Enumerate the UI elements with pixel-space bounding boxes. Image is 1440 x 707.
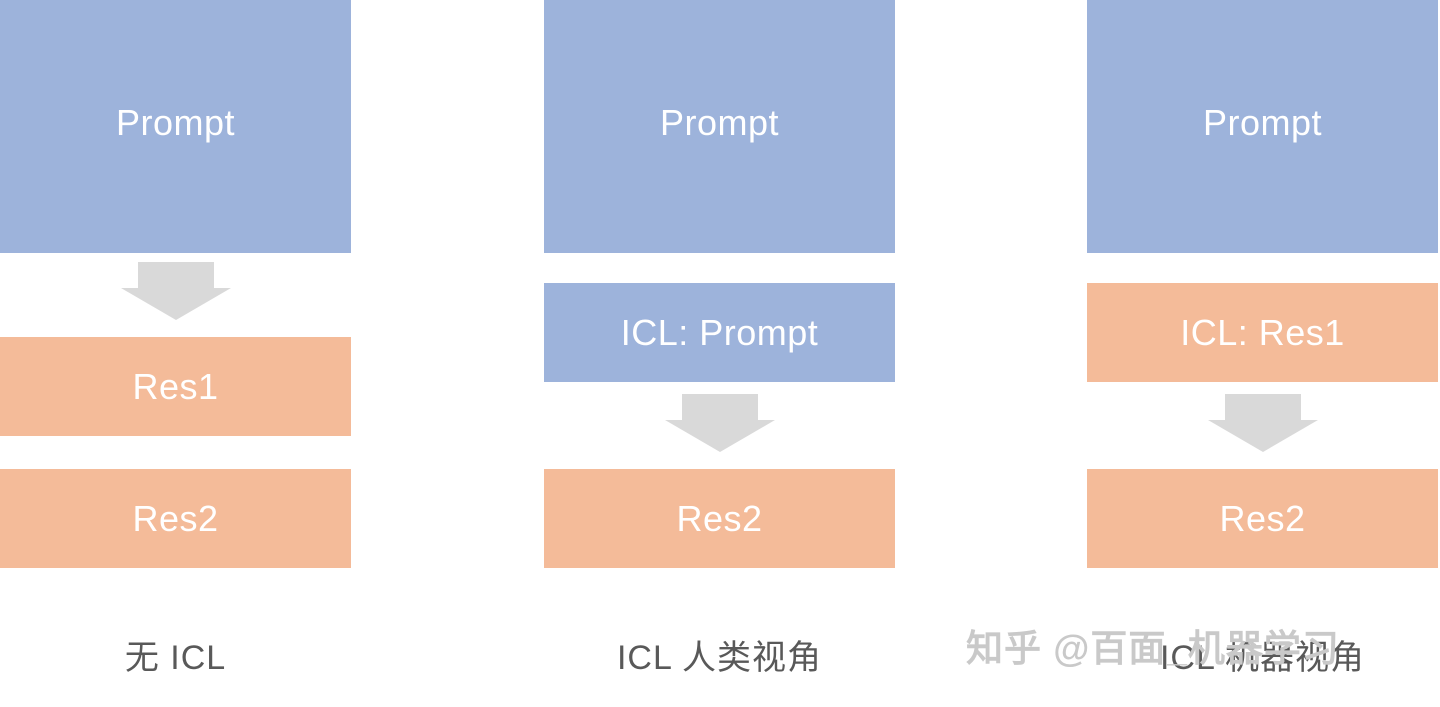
box-icl-res1: ICL: Res1 (1087, 283, 1438, 382)
column-caption-icl-machine-view: ICL 机器视角 (1087, 630, 1438, 679)
arrow-shaft (682, 394, 758, 420)
column-caption-no-icl: 无 ICL (0, 630, 351, 679)
arrow-down-icon (121, 262, 231, 320)
arrow-head (121, 288, 231, 320)
arrow-head (665, 420, 775, 452)
arrow-down-icon (1208, 394, 1318, 452)
box-prompt: Prompt (0, 0, 351, 253)
column-caption-icl-human-view: ICL 人类视角 (544, 630, 895, 679)
box-prompt: Prompt (1087, 0, 1438, 253)
arrow-down-icon (665, 394, 775, 452)
box-prompt: Prompt (544, 0, 895, 253)
diagram-column-icl-machine-view: Prompt ICL: Res1 Res2 ICL 机器视角 (1087, 0, 1438, 707)
box-res2: Res2 (544, 469, 895, 568)
arrow-head (1208, 420, 1318, 452)
diagram-column-icl-human-view: Prompt ICL: Prompt Res2 ICL 人类视角 (544, 0, 895, 707)
diagram-canvas: Prompt Res1 Res2 无 ICL Prompt ICL: Promp… (0, 0, 1440, 707)
arrow-shaft (138, 262, 214, 288)
box-icl-prompt: ICL: Prompt (544, 283, 895, 382)
box-res2: Res2 (1087, 469, 1438, 568)
box-res1: Res1 (0, 337, 351, 436)
box-res2: Res2 (0, 469, 351, 568)
diagram-column-no-icl: Prompt Res1 Res2 无 ICL (0, 0, 351, 707)
arrow-shaft (1225, 394, 1301, 420)
